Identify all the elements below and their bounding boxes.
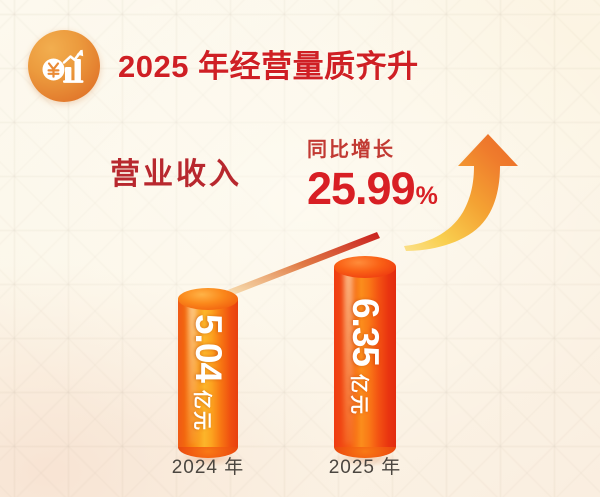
revenue-label: 营业收入 bbox=[110, 160, 242, 190]
money-growth-chart-icon bbox=[28, 30, 100, 102]
bar-value-2025: 6.35 bbox=[344, 298, 386, 366]
bar-value-group: 6.35 亿元 bbox=[334, 256, 396, 458]
page-title: 2025 年经营量质齐升 bbox=[118, 51, 419, 82]
growth-value-number: 25.99 bbox=[307, 166, 415, 211]
infographic-canvas: 2025 年经营量质齐升 营业收入 同比增长 25.99 % bbox=[0, 0, 600, 497]
bar-2024: 5.04 亿元 bbox=[178, 288, 238, 458]
header: 2025 年经营量质齐升 bbox=[28, 30, 419, 102]
bar-value-group: 5.04 亿元 bbox=[178, 288, 238, 458]
bar-unit-2024: 亿元 bbox=[190, 390, 217, 432]
upward-curved-arrow-icon bbox=[400, 132, 530, 252]
axis-label-2025: 2025 年 bbox=[315, 458, 415, 477]
bar-unit-2025: 亿元 bbox=[347, 374, 374, 416]
bar-value-2024: 5.04 bbox=[187, 314, 229, 382]
axis-label-2024: 2024 年 bbox=[158, 458, 258, 477]
bar-2025: 6.35 亿元 bbox=[334, 256, 396, 458]
